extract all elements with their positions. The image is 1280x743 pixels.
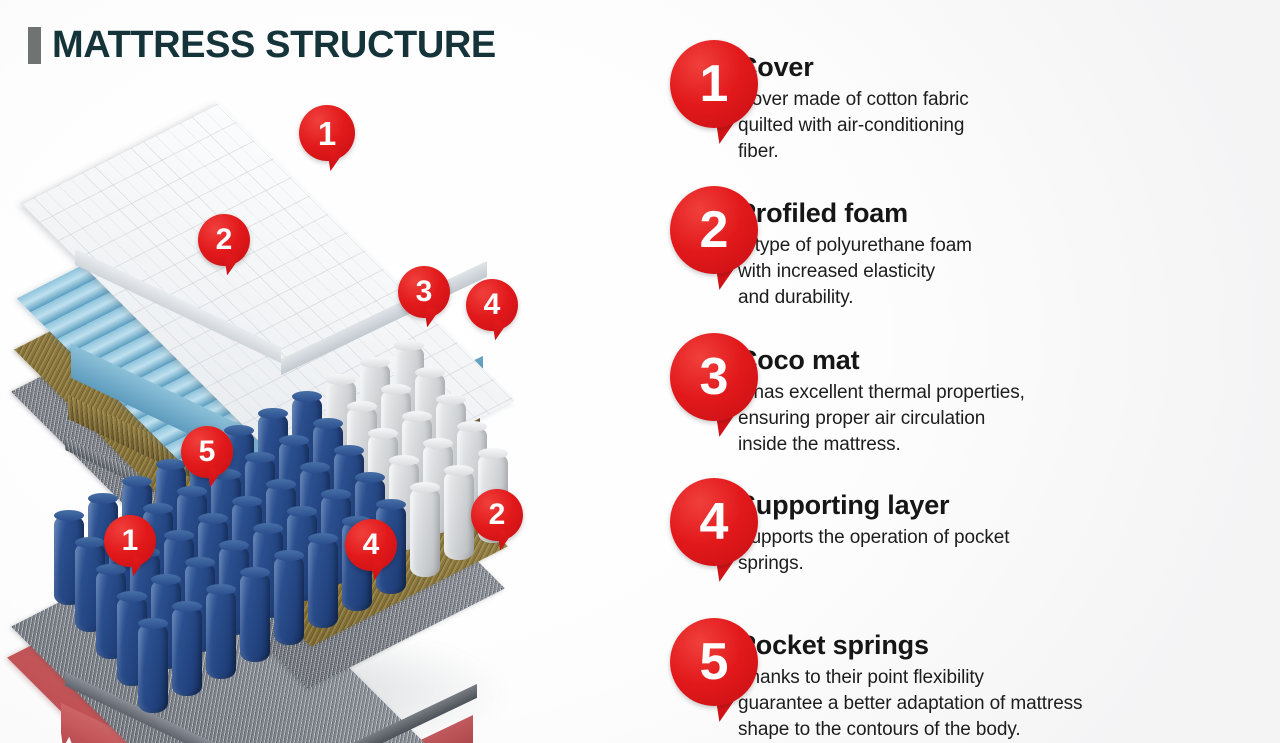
illustration-marker-lower-felt-4[interactable]: 4 — [345, 519, 397, 571]
legend-item-body: CoverCover made of cotton fabric quilted… — [738, 40, 969, 165]
marker-number: 2 — [489, 500, 506, 530]
marker-number: 4 — [363, 530, 380, 560]
legend-marker-2[interactable]: 2 — [670, 186, 758, 274]
marker-number: 4 — [484, 290, 501, 320]
legend-item-body: Coco matIt has excellent thermal propert… — [738, 333, 1025, 458]
legend-item-description: Thanks to their point flexibility guaran… — [738, 665, 1082, 742]
illustration-marker-pocket-springs-5[interactable]: 5 — [181, 426, 233, 478]
pocket-spring-grey — [444, 470, 474, 560]
legend-item-title: Coco mat — [738, 345, 1025, 375]
marker-number: 1 — [122, 526, 139, 556]
marker-number: 5 — [199, 437, 216, 467]
legend-item-title: Pocket springs — [738, 630, 1082, 660]
illustration-marker-coco-mat-3[interactable]: 3 — [398, 266, 450, 318]
pocket-spring-blue — [240, 572, 270, 662]
legend-item-title: Cover — [738, 52, 969, 82]
illustration-marker-supporting-felt-4[interactable]: 4 — [466, 279, 518, 331]
legend-list: 1CoverCover made of cotton fabric quilte… — [662, 18, 1262, 734]
legend-marker-number: 3 — [700, 351, 729, 403]
legend-marker-1[interactable]: 1 — [670, 40, 758, 128]
legend-item-5[interactable]: 5Pocket springsThanks to their point fle… — [662, 618, 1262, 743]
legend-marker-3[interactable]: 3 — [670, 333, 758, 421]
page-title: MATTRESS STRUCTURE — [52, 26, 496, 64]
legend-item-3[interactable]: 3Coco matIt has excellent thermal proper… — [662, 333, 1262, 458]
pocket-spring-blue — [274, 555, 304, 645]
legend-item-body: Pocket springsThanks to their point flex… — [738, 618, 1082, 743]
legend-marker-number: 2 — [700, 204, 729, 256]
pocket-spring-blue — [308, 538, 338, 628]
illustration-marker-profiled-foam-2[interactable]: 2 — [198, 214, 250, 266]
pocket-spring-blue — [172, 606, 202, 696]
mattress-exploded-illustration: 12345142 — [18, 70, 618, 720]
title-accent-bar — [28, 27, 41, 64]
illustration-marker-cover-1[interactable]: 1 — [299, 105, 355, 161]
pocket-spring-grey — [410, 487, 440, 577]
legend-item-title: Supporting layer — [738, 490, 1009, 520]
page-header: MATTRESS STRUCTURE — [28, 26, 496, 64]
illustration-marker-base-foam-1[interactable]: 1 — [104, 515, 156, 567]
legend-marker-5[interactable]: 5 — [670, 618, 758, 706]
pocket-spring-blue — [138, 623, 168, 713]
legend-item-title: Profiled foam — [738, 198, 972, 228]
pocket-spring-blue — [206, 589, 236, 679]
legend-item-description: Supports the operation of pocket springs… — [738, 525, 1009, 577]
legend-item-4[interactable]: 4Supporting layerSupports the operation … — [662, 478, 1262, 577]
marker-number: 2 — [216, 225, 233, 255]
legend-item-body: Profiled foamA type of polyurethane foam… — [738, 186, 972, 311]
legend-item-description: A type of polyurethane foam with increas… — [738, 233, 972, 310]
legend-marker-number: 1 — [700, 58, 729, 110]
legend-item-1[interactable]: 1CoverCover made of cotton fabric quilte… — [662, 40, 1262, 165]
legend-item-body: Supporting layerSupports the operation o… — [738, 478, 1009, 577]
legend-marker-4[interactable]: 4 — [670, 478, 758, 566]
marker-number: 3 — [416, 277, 433, 307]
marker-number: 1 — [318, 117, 336, 150]
legend-marker-number: 5 — [700, 636, 729, 688]
legend-item-description: It has excellent thermal properties, ens… — [738, 380, 1025, 457]
legend-item-2[interactable]: 2Profiled foamA type of polyurethane foa… — [662, 186, 1262, 311]
legend-marker-number: 4 — [700, 496, 729, 548]
illustration-marker-base-foam-2[interactable]: 2 — [471, 489, 523, 541]
legend-item-description: Cover made of cotton fabric quilted with… — [738, 87, 969, 164]
